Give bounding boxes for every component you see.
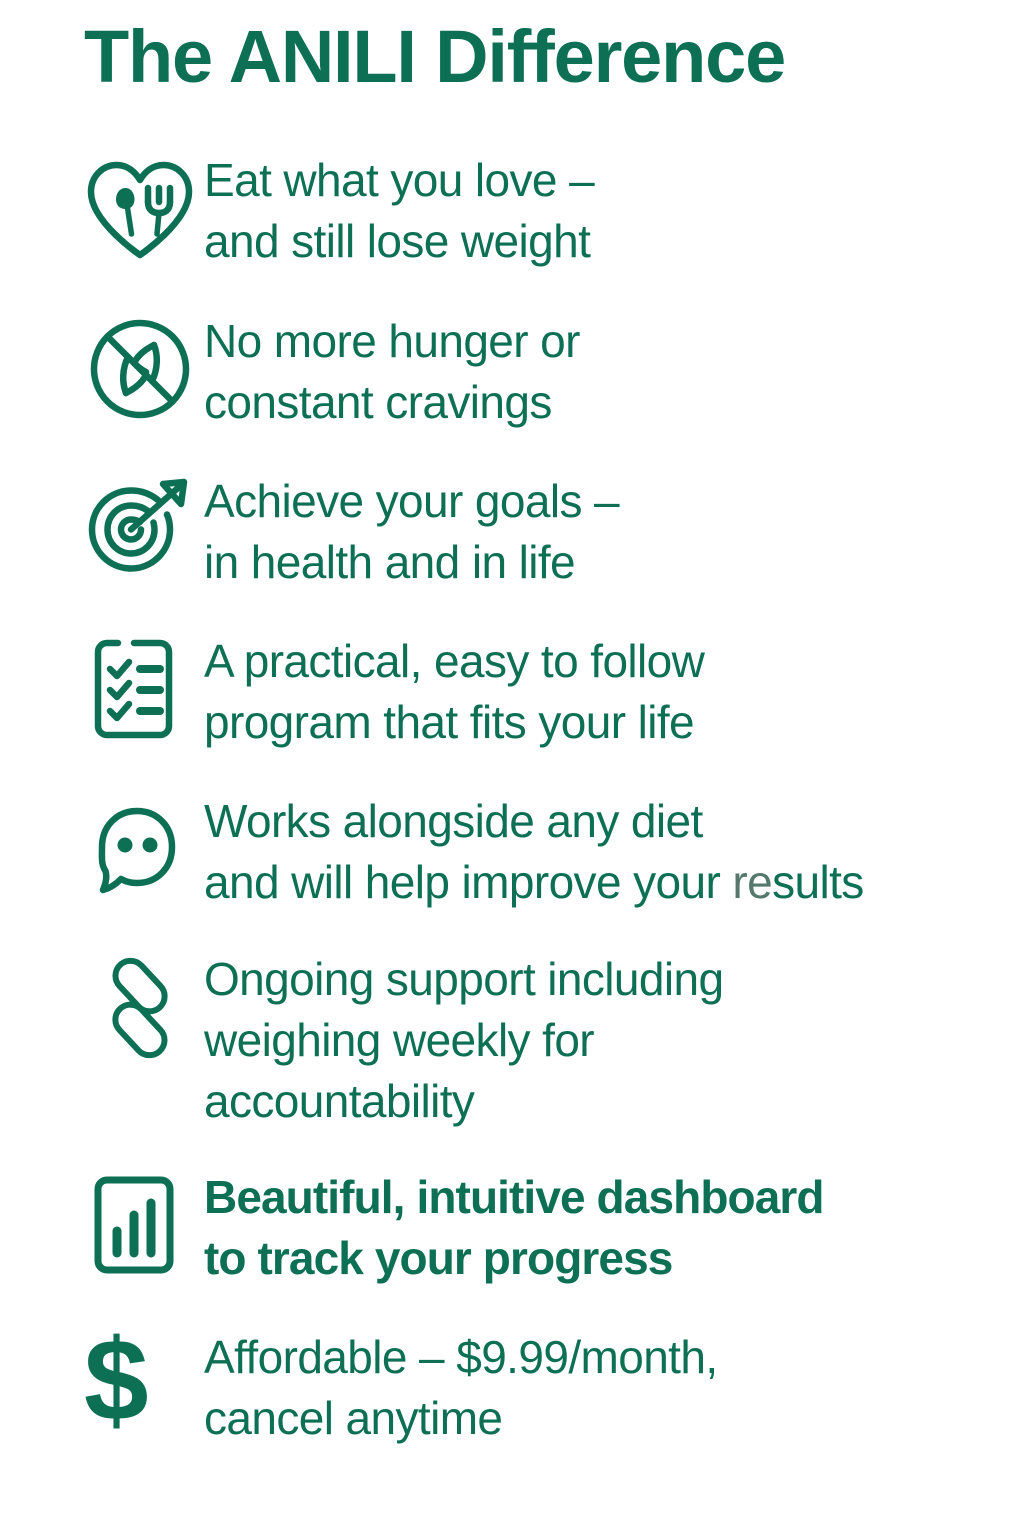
target-arrow-icon (84, 478, 196, 582)
list-item: Ongoing support including weighing weekl… (0, 949, 1021, 1132)
icon-container (84, 791, 204, 895)
list-item-label: A practical, easy to follow program that… (204, 631, 1021, 753)
list-item-line-2-part-2: sults (772, 856, 864, 908)
icon-container (84, 949, 204, 1060)
list-item-line-2-part-1: and will help improve your (204, 856, 732, 908)
benefit-list: Eat what you love – and still lose weigh… (0, 150, 1021, 1449)
no-hunger-icon (84, 317, 196, 421)
list-item: Beautiful, intuitive dashboard to track … (0, 1167, 1021, 1289)
dollar-sign-icon: $ (84, 1327, 149, 1433)
chain-link-icon (84, 956, 196, 1060)
list-item: $ Affordable – $9.99/month, cancel anyti… (0, 1327, 1021, 1449)
dashboard-bar-chart-icon (84, 1173, 196, 1277)
anili-difference-panel: The ANILI Difference (0, 0, 1021, 1513)
list-item-label: Affordable – $9.99/month, cancel anytime (204, 1327, 1021, 1449)
icon-container (84, 311, 204, 421)
list-item: Achieve your goals – in health and in li… (0, 471, 1021, 593)
list-item-line-1: Works alongside any diet (204, 795, 703, 847)
icon-container (84, 150, 204, 262)
icon-container (84, 1167, 204, 1277)
list-item-label: No more hunger or constant cravings (204, 311, 1021, 433)
list-item-label: Beautiful, intuitive dashboard to track … (204, 1167, 1021, 1289)
speech-bubble-icon (84, 803, 196, 895)
page-title: The ANILI Difference (84, 14, 785, 100)
list-item: A practical, easy to follow program that… (0, 631, 1021, 753)
icon-container (84, 471, 204, 582)
list-item-label: Eat what you love – and still lose weigh… (204, 150, 1021, 272)
list-item-label: Ongoing support including weighing weekl… (204, 949, 1021, 1132)
list-item-line-2-muted-fragment: re (732, 856, 772, 908)
checklist-icon (84, 637, 196, 741)
list-item-label: Works alongside any dietand will help im… (204, 791, 1021, 913)
heart-utensils-icon (84, 158, 196, 262)
list-item: No more hunger or constant cravings (0, 311, 1021, 433)
icon-container (84, 631, 204, 741)
list-item: Eat what you love – and still lose weigh… (0, 150, 1021, 272)
list-item: Works alongside any dietand will help im… (0, 791, 1021, 913)
list-item-label: Achieve your goals – in health and in li… (204, 471, 1021, 593)
icon-container: $ (84, 1327, 204, 1433)
